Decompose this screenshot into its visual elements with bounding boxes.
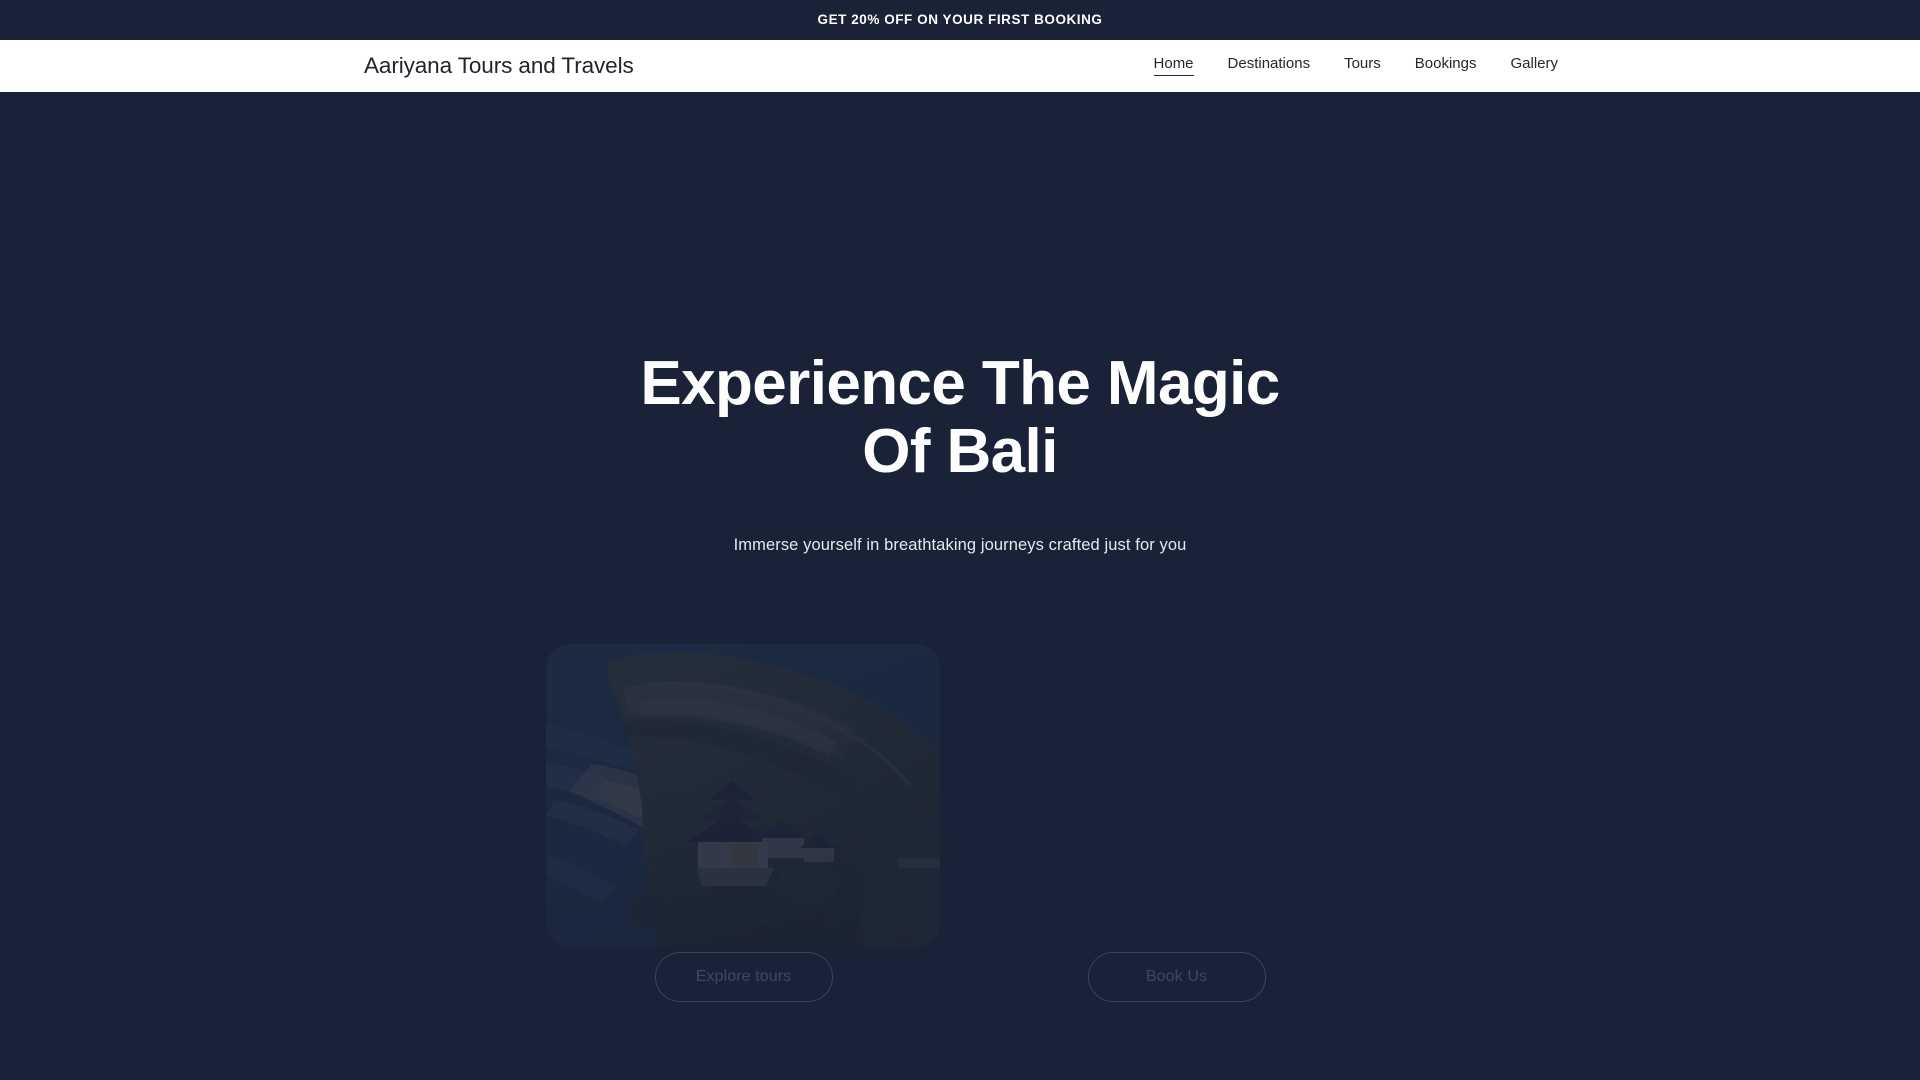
hero-title-line-2: Of Bali [0, 418, 1920, 486]
hero-title: Experience The Magic Of Bali [0, 350, 1920, 486]
hero-image-card [546, 644, 940, 947]
book-us-button[interactable]: Book Us [1088, 952, 1266, 1002]
nav-item-gallery[interactable]: Gallery [1510, 56, 1558, 76]
nav-item-home[interactable]: Home [1154, 56, 1194, 76]
main-navigation: Home Destinations Tours Bookings Gallery [1154, 56, 1558, 76]
nav-item-destinations[interactable]: Destinations [1228, 56, 1311, 76]
promo-banner-text: GET 20% OFF ON YOUR FIRST BOOKING [818, 13, 1103, 27]
hero-cta-group: Explore tours Book Us [0, 952, 1920, 1002]
nav-item-bookings[interactable]: Bookings [1415, 56, 1477, 76]
hero-subtitle: Immerse yourself in breathtaking journey… [0, 534, 1920, 557]
bali-cliff-photo [546, 644, 940, 947]
site-header: Aariyana Tours and Travels Home Destinat… [0, 40, 1920, 92]
nav-item-tours[interactable]: Tours [1344, 56, 1381, 76]
promo-banner: GET 20% OFF ON YOUR FIRST BOOKING [0, 0, 1920, 40]
hero-title-line-1: Experience The Magic [0, 350, 1920, 418]
brand-logo[interactable]: Aariyana Tours and Travels [364, 55, 634, 78]
explore-tours-button[interactable]: Explore tours [655, 952, 833, 1002]
hero-section: Experience The Magic Of Bali Immerse you… [0, 92, 1920, 1080]
